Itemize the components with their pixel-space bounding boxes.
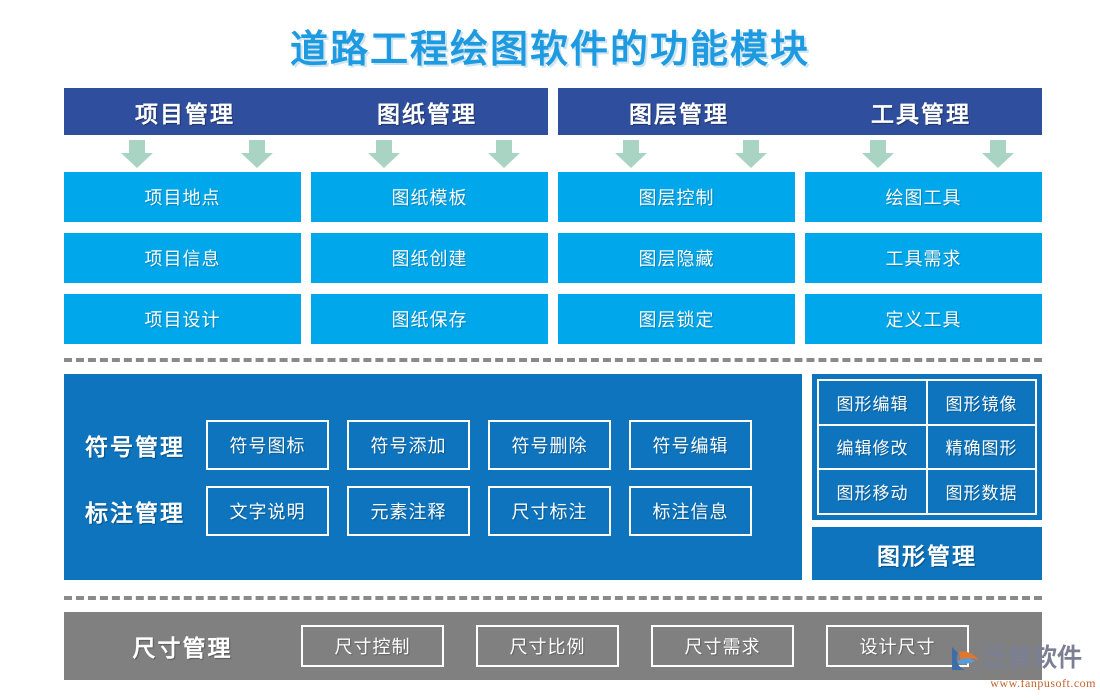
arrow-down-icon [735, 140, 767, 168]
feature-cell[interactable]: 图纸模板 [311, 172, 548, 222]
symbol-item[interactable]: 符号图标 [206, 420, 329, 470]
graphics-management-title: 图形管理 [812, 527, 1042, 580]
company-name: 泛普软件 [982, 646, 1082, 671]
feature-cell[interactable]: 定义工具 [805, 294, 1042, 344]
annotation-management-row: 标注管理 文字说明 元素注释 尺寸标注 标注信息 [64, 483, 802, 539]
arrow-down-icon [862, 140, 894, 168]
header-group-right: 图层管理 工具管理 [558, 88, 1042, 135]
header-tool-management[interactable]: 工具管理 [800, 88, 1042, 135]
symbol-item[interactable]: 符号添加 [347, 420, 470, 470]
column-layer-management: 图层控制 图层隐藏 图层锁定 [558, 172, 795, 344]
feature-cell[interactable]: 图层锁定 [558, 294, 795, 344]
arrow-row [64, 140, 1042, 168]
dimension-item[interactable]: 尺寸比例 [476, 625, 619, 667]
feature-cell[interactable]: 工具需求 [805, 233, 1042, 283]
graphics-item[interactable]: 编辑修改 [817, 424, 928, 471]
arrow-down-icon [368, 140, 400, 168]
divider-top [64, 358, 1042, 362]
feature-cell[interactable]: 图层控制 [558, 172, 795, 222]
dimension-management-label: 尺寸管理 [64, 629, 301, 663]
feature-cell[interactable]: 项目设计 [64, 294, 301, 344]
symbol-item[interactable]: 符号编辑 [629, 420, 752, 470]
feature-cell[interactable]: 绘图工具 [805, 172, 1042, 222]
arrow-down-icon [982, 140, 1014, 168]
symbol-management-label: 符号管理 [64, 428, 206, 462]
annotation-item[interactable]: 尺寸标注 [488, 486, 611, 536]
graphics-item[interactable]: 图形数据 [926, 468, 1037, 515]
annotation-item[interactable]: 标注信息 [629, 486, 752, 536]
header-group-left: 项目管理 图纸管理 [64, 88, 548, 135]
column-tool-management: 绘图工具 工具需求 定义工具 [805, 172, 1042, 344]
feature-cell[interactable]: 项目信息 [64, 233, 301, 283]
symbol-item[interactable]: 符号删除 [488, 420, 611, 470]
header-drawing-management[interactable]: 图纸管理 [306, 88, 548, 135]
dimension-management-bar: 尺寸管理 尺寸控制 尺寸比例 尺寸需求 设计尺寸 [64, 612, 1042, 680]
graphics-item[interactable]: 图形镜像 [926, 379, 1037, 426]
graphics-item[interactable]: 图形编辑 [817, 379, 928, 426]
arrow-down-icon [615, 140, 647, 168]
arrow-down-icon [488, 140, 520, 168]
annotation-item[interactable]: 元素注释 [347, 486, 470, 536]
column-project-management: 项目地点 项目信息 项目设计 [64, 172, 301, 344]
divider-bottom [64, 596, 1042, 600]
feature-cell[interactable]: 项目地点 [64, 172, 301, 222]
annotation-management-label: 标注管理 [64, 494, 206, 528]
header-project-management[interactable]: 项目管理 [64, 88, 306, 135]
annotation-item[interactable]: 文字说明 [206, 486, 329, 536]
header-layer-management[interactable]: 图层管理 [558, 88, 800, 135]
graphics-grid: 图形编辑 图形镜像 编辑修改 精确图形 图形移动 图形数据 [812, 374, 1042, 520]
company-logo: 泛普软件 www.fanpusoft.com [948, 642, 1096, 694]
feature-cell[interactable]: 图纸保存 [311, 294, 548, 344]
symbol-management-row: 符号管理 符号图标 符号添加 符号删除 符号编辑 [64, 417, 802, 473]
dimension-item[interactable]: 尺寸控制 [301, 625, 444, 667]
symbol-annotation-panel: 符号管理 符号图标 符号添加 符号删除 符号编辑 标注管理 文字说明 元素注释 … [64, 374, 802, 580]
fanpu-logo-icon [948, 643, 982, 674]
column-drawing-management: 图纸模板 图纸创建 图纸保存 [311, 172, 548, 344]
graphics-item[interactable]: 图形移动 [817, 468, 928, 515]
arrow-down-icon [241, 140, 273, 168]
graphics-item[interactable]: 精确图形 [926, 424, 1037, 471]
arrow-down-icon [121, 140, 153, 168]
feature-cell[interactable]: 图层隐藏 [558, 233, 795, 283]
feature-columns: 项目地点 项目信息 项目设计 图纸模板 图纸创建 图纸保存 图层控制 图层隐藏 … [64, 172, 1042, 344]
page-title: 道路工程绘图软件的功能模块 [0, 18, 1100, 73]
feature-cell[interactable]: 图纸创建 [311, 233, 548, 283]
company-url: www.fanpusoft.com [948, 676, 1096, 691]
dimension-item[interactable]: 尺寸需求 [651, 625, 794, 667]
